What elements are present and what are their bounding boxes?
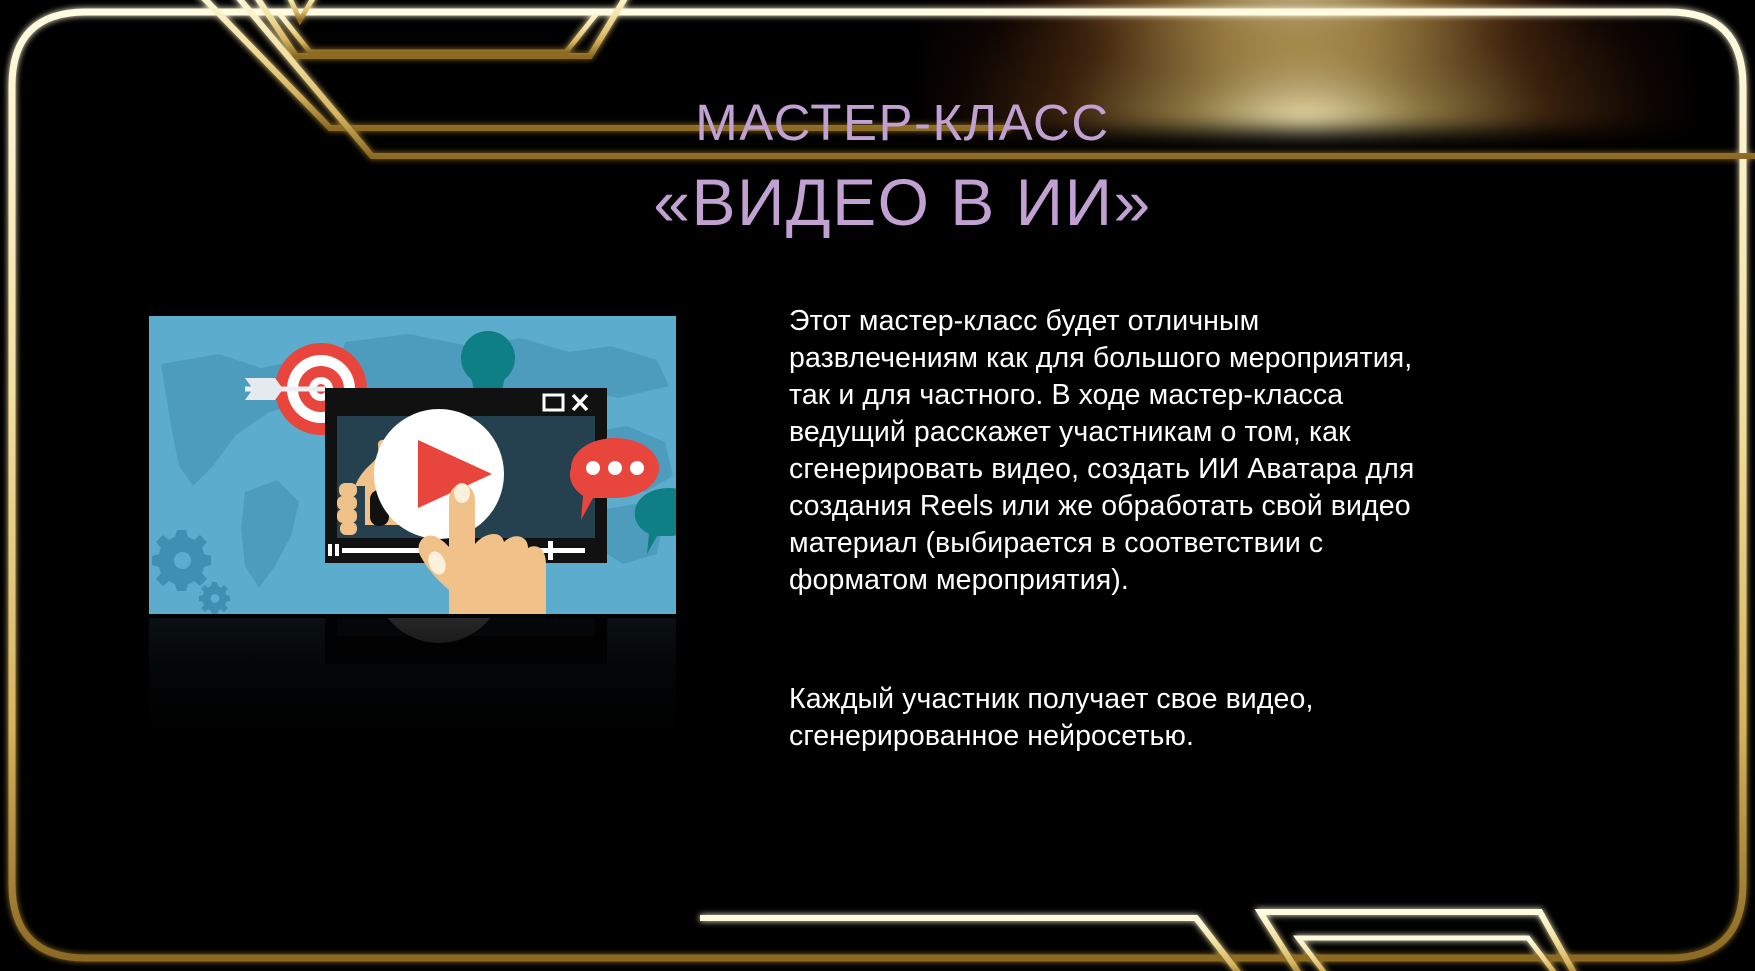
body-copy: Этот мастер-класс будет отличным развлеч… — [789, 303, 1519, 755]
page-title-line2: «ВИДЕО В ИИ» — [50, 164, 1755, 242]
slide-root: МАСТЕР-КЛАСС «ВИДЕО В ИИ» — [0, 0, 1755, 971]
page-title-line1: МАСТЕР-КЛАСС — [50, 96, 1755, 150]
progress-handle[interactable] — [548, 541, 553, 560]
title-block: МАСТЕР-КЛАСС «ВИДЕО В ИИ» — [0, 96, 1755, 241]
paragraph-description: Этот мастер-класс будет отличным развлеч… — [789, 303, 1519, 599]
video-illustration — [149, 316, 676, 614]
illustration-reflection — [149, 618, 676, 736]
illustration-svg — [149, 316, 676, 614]
paragraph-outcome: Каждый участник получает свое видео, сге… — [789, 681, 1519, 755]
corner-glow-topright-highlight — [1015, 0, 1575, 100]
play-button-icon[interactable] — [374, 409, 504, 539]
illustration-container — [149, 316, 676, 736]
